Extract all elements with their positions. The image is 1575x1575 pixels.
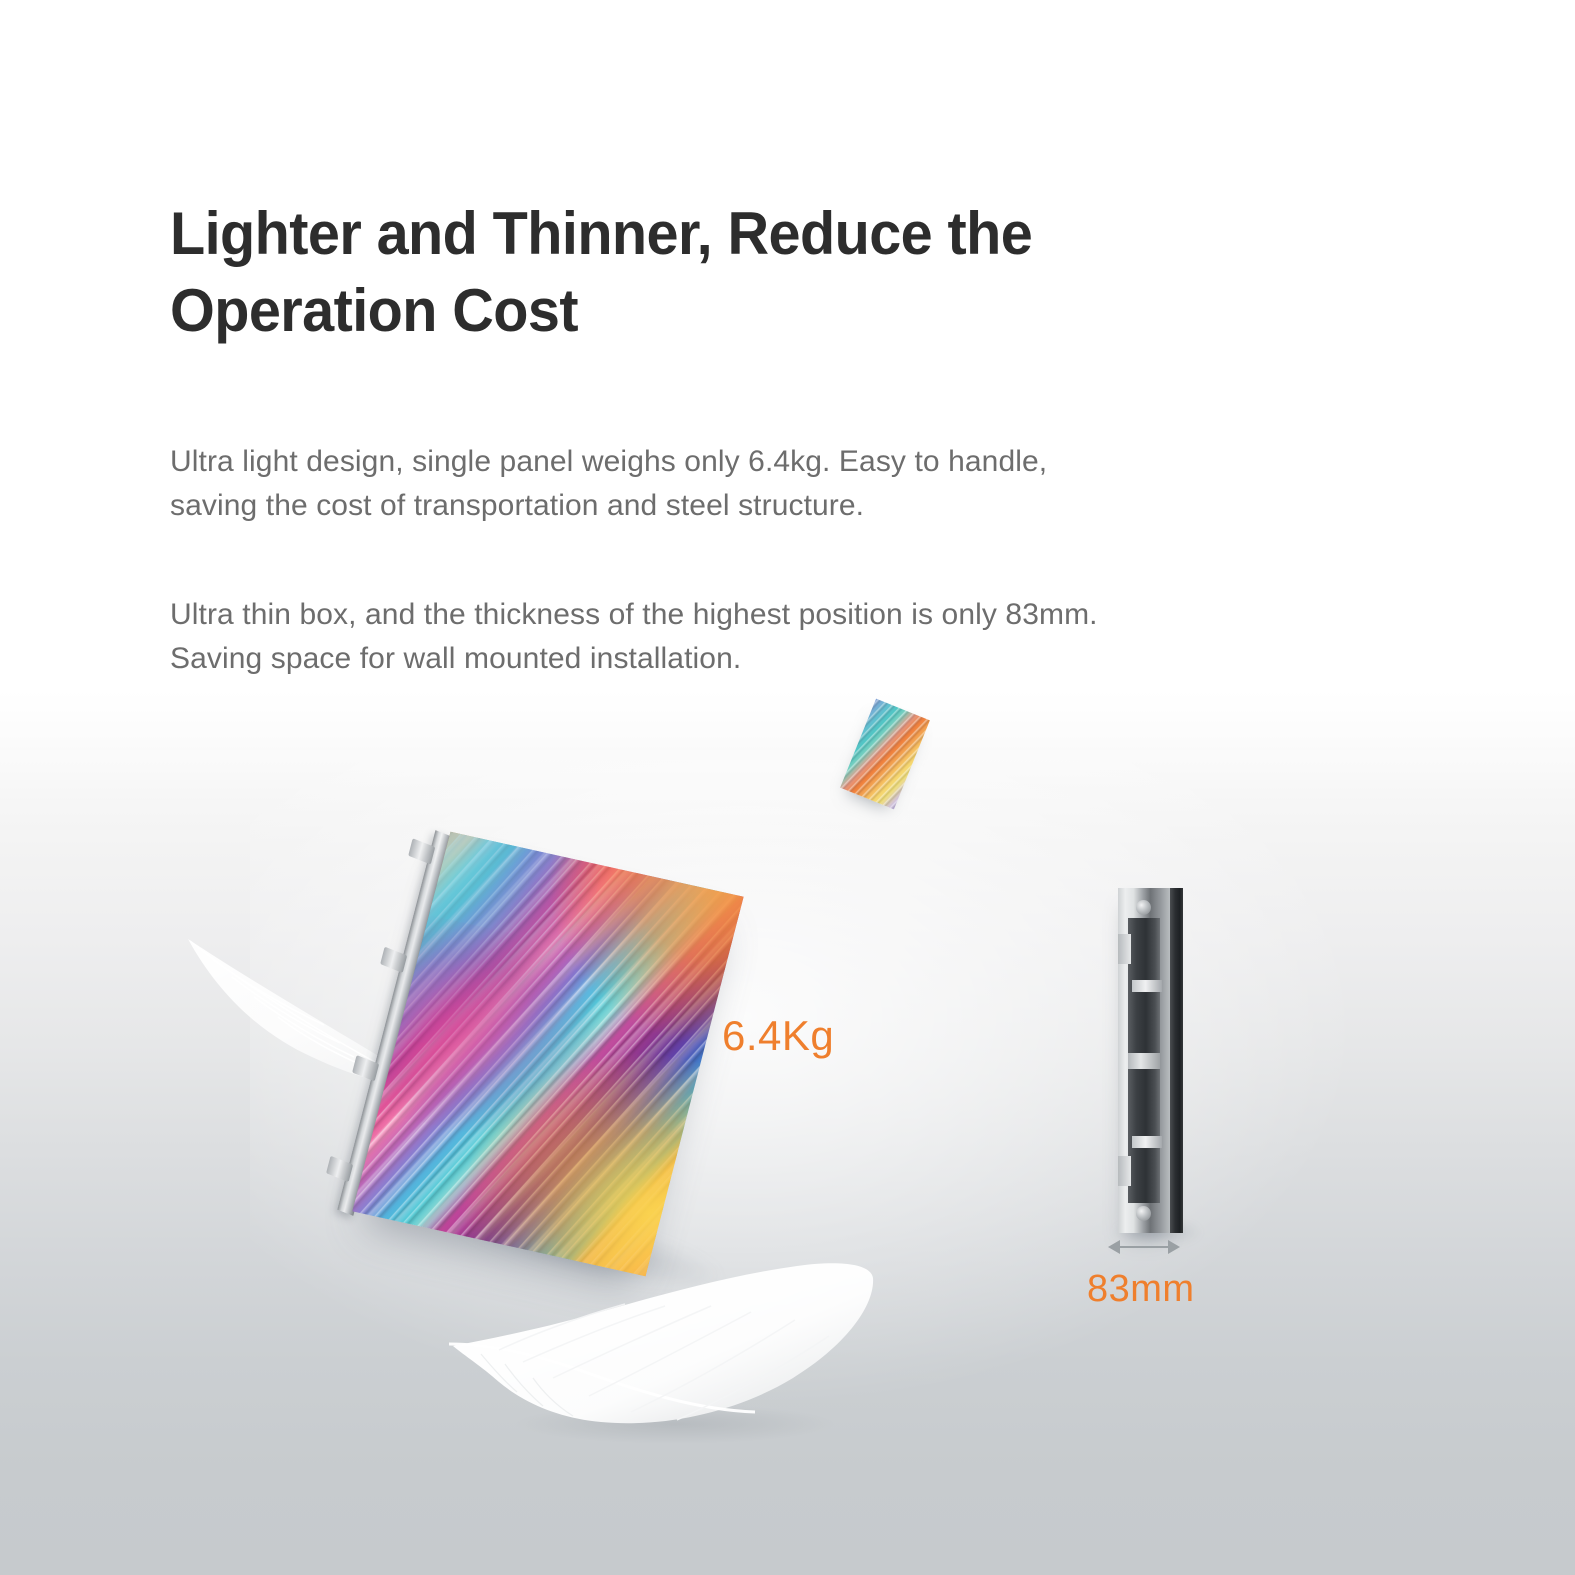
- page-title: Lighter and Thinner, Reduce the Operatio…: [170, 196, 1245, 350]
- side-profile-notch: [1118, 1156, 1131, 1186]
- mini-panel-streaks: [840, 699, 930, 810]
- side-profile-ledge: [1132, 1136, 1162, 1148]
- arrow-line: [1118, 1246, 1170, 1248]
- paragraph-weight: Ultra light design, single panel weighs …: [170, 440, 1370, 527]
- side-profile-body: [1118, 888, 1170, 1233]
- panel-mount-tab: [408, 838, 435, 864]
- side-profile-rib: [1128, 1053, 1160, 1069]
- side-profile-ledge: [1132, 980, 1162, 992]
- thickness-callout-label: 83mm: [1087, 1268, 1195, 1311]
- paragraph-thickness: Ultra thin box, and the thickness of the…: [170, 593, 1370, 680]
- led-cabinet-side-profile: [1118, 888, 1208, 1233]
- arrow-head-right-icon: [1168, 1240, 1180, 1254]
- side-profile-notch: [1118, 934, 1131, 964]
- panel-artwork-sheen: [352, 832, 743, 1276]
- weight-callout-label: 6.4Kg: [722, 1012, 834, 1060]
- panel-screen-face: [352, 832, 743, 1276]
- side-profile-bolt: [1136, 1206, 1151, 1221]
- thickness-dimension-arrow: [1108, 1240, 1180, 1254]
- led-display-panel-small: [848, 700, 968, 830]
- panel-body: [352, 832, 743, 1276]
- side-profile-screen-face: [1170, 888, 1183, 1233]
- side-profile-bolt: [1136, 900, 1151, 915]
- mini-panel-face: [840, 699, 930, 810]
- page-canvas: Lighter and Thinner, Reduce the Operatio…: [0, 0, 1575, 1575]
